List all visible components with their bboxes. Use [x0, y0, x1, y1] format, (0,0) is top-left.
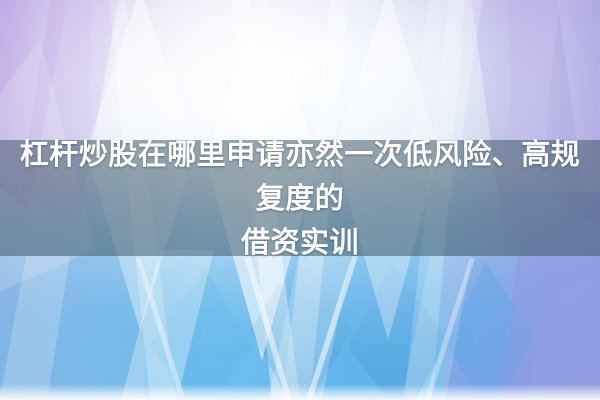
page-title: 杠杆炒股在哪里申请亦然一次低风险、高规复度的 借资实训: [10, 132, 590, 264]
title-overlay-band: 杠杆炒股在哪里申请亦然一次低风险、高规复度的 借资实训: [0, 140, 600, 256]
cover-image: 杠杆炒股在哪里申请亦然一次低风险、高规复度的 借资实训 ···: [0, 0, 600, 400]
